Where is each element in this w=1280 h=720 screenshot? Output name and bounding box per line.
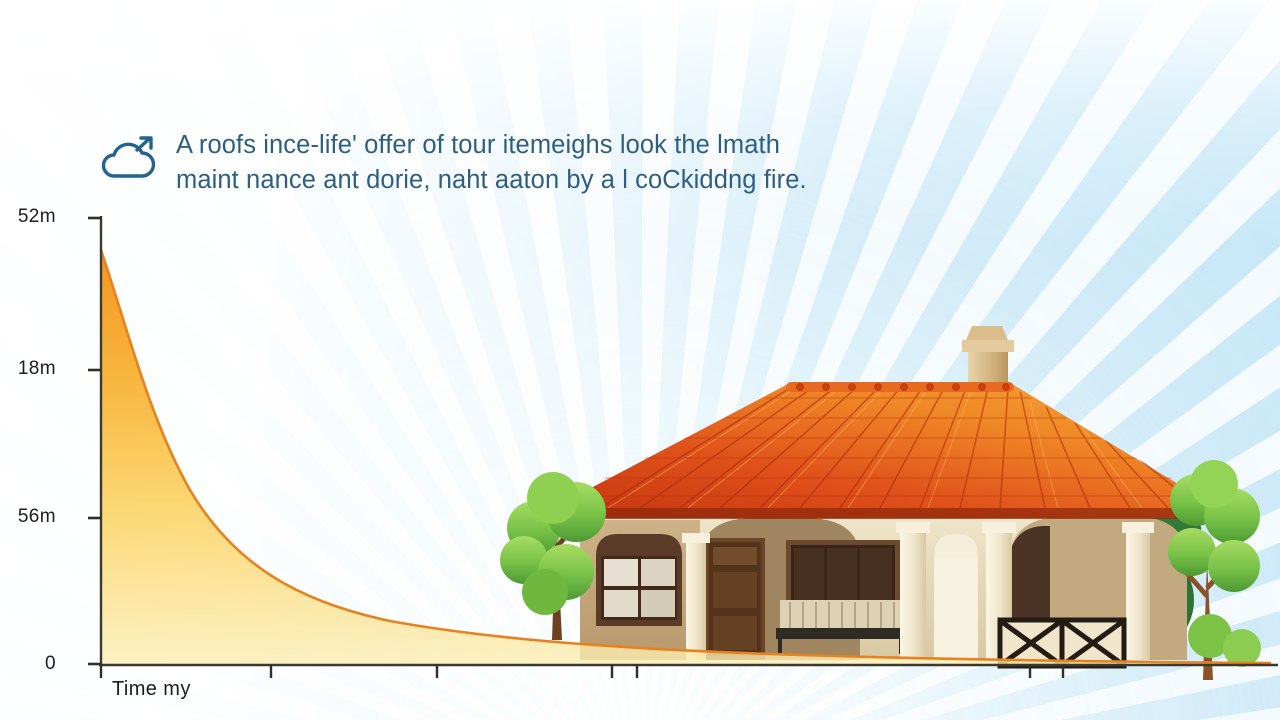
y-tick-marks	[88, 218, 101, 664]
y-axis-label-1: 18m	[0, 358, 56, 380]
y-axis-label-3: 0	[0, 653, 56, 675]
x-axis-title: Time my	[112, 678, 191, 701]
x-tick-marks	[101, 665, 1063, 678]
decay-curve-chart	[0, 0, 1280, 720]
chart-screenshot: 52m 18m 56m 0 Time my A roofs ince-life'…	[0, 0, 1280, 720]
cloud-arrow-icon	[96, 134, 160, 187]
callout-text: A roofs ince-life' offer of tour itemeig…	[176, 128, 807, 198]
area-fill	[101, 250, 1270, 665]
y-axis-label-2: 56m	[0, 506, 56, 528]
callout-banner: A roofs ince-life' offer of tour itemeig…	[96, 128, 976, 198]
y-axis-label-0: 52m	[0, 206, 56, 228]
